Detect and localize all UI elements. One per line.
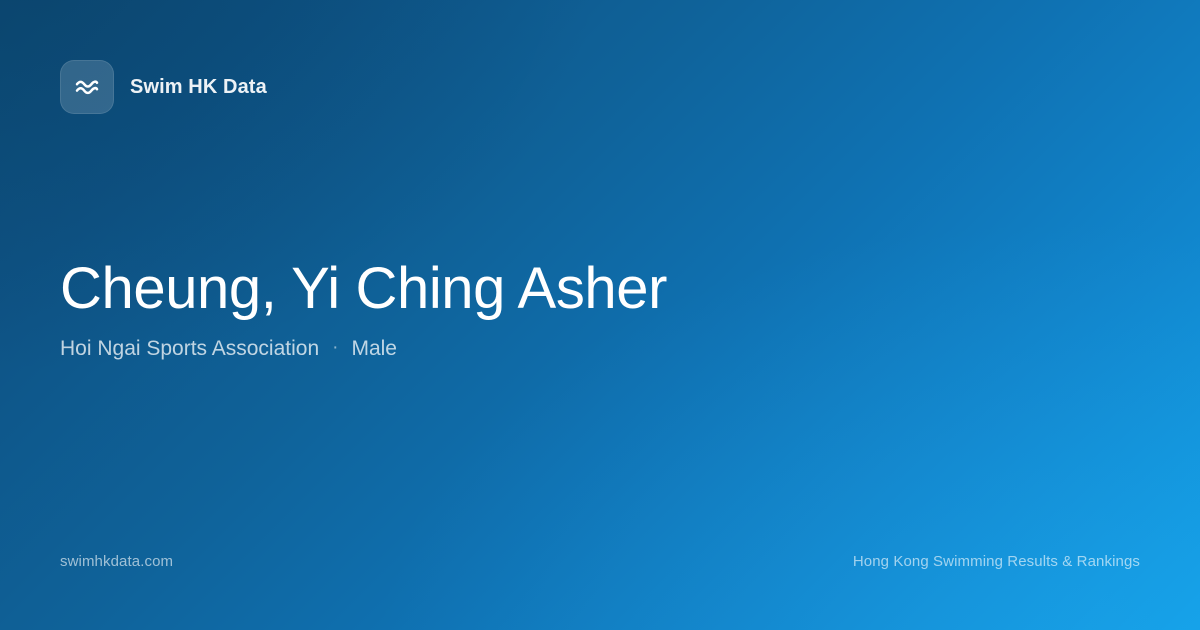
athlete-club: Hoi Ngai Sports Association (60, 335, 319, 362)
meta-separator: · (319, 336, 351, 361)
og-card: Swim HK Data Cheung, Yi Ching Asher Hoi … (0, 0, 1200, 630)
card-content: Swim HK Data Cheung, Yi Ching Asher Hoi … (0, 0, 1200, 630)
athlete-name: Cheung, Yi Ching Asher (60, 258, 1140, 321)
site-url[interactable]: swimhkdata.com (60, 553, 173, 570)
athlete-meta: Hoi Ngai Sports Association · Male (60, 335, 1140, 362)
athlete-block: Cheung, Yi Ching Asher Hoi Ngai Sports A… (60, 88, 1140, 362)
athlete-gender: Male (351, 335, 397, 362)
card-footer: swimhkdata.com Hong Kong Swimming Result… (60, 553, 1140, 570)
site-tagline: Hong Kong Swimming Results & Rankings (853, 553, 1140, 570)
